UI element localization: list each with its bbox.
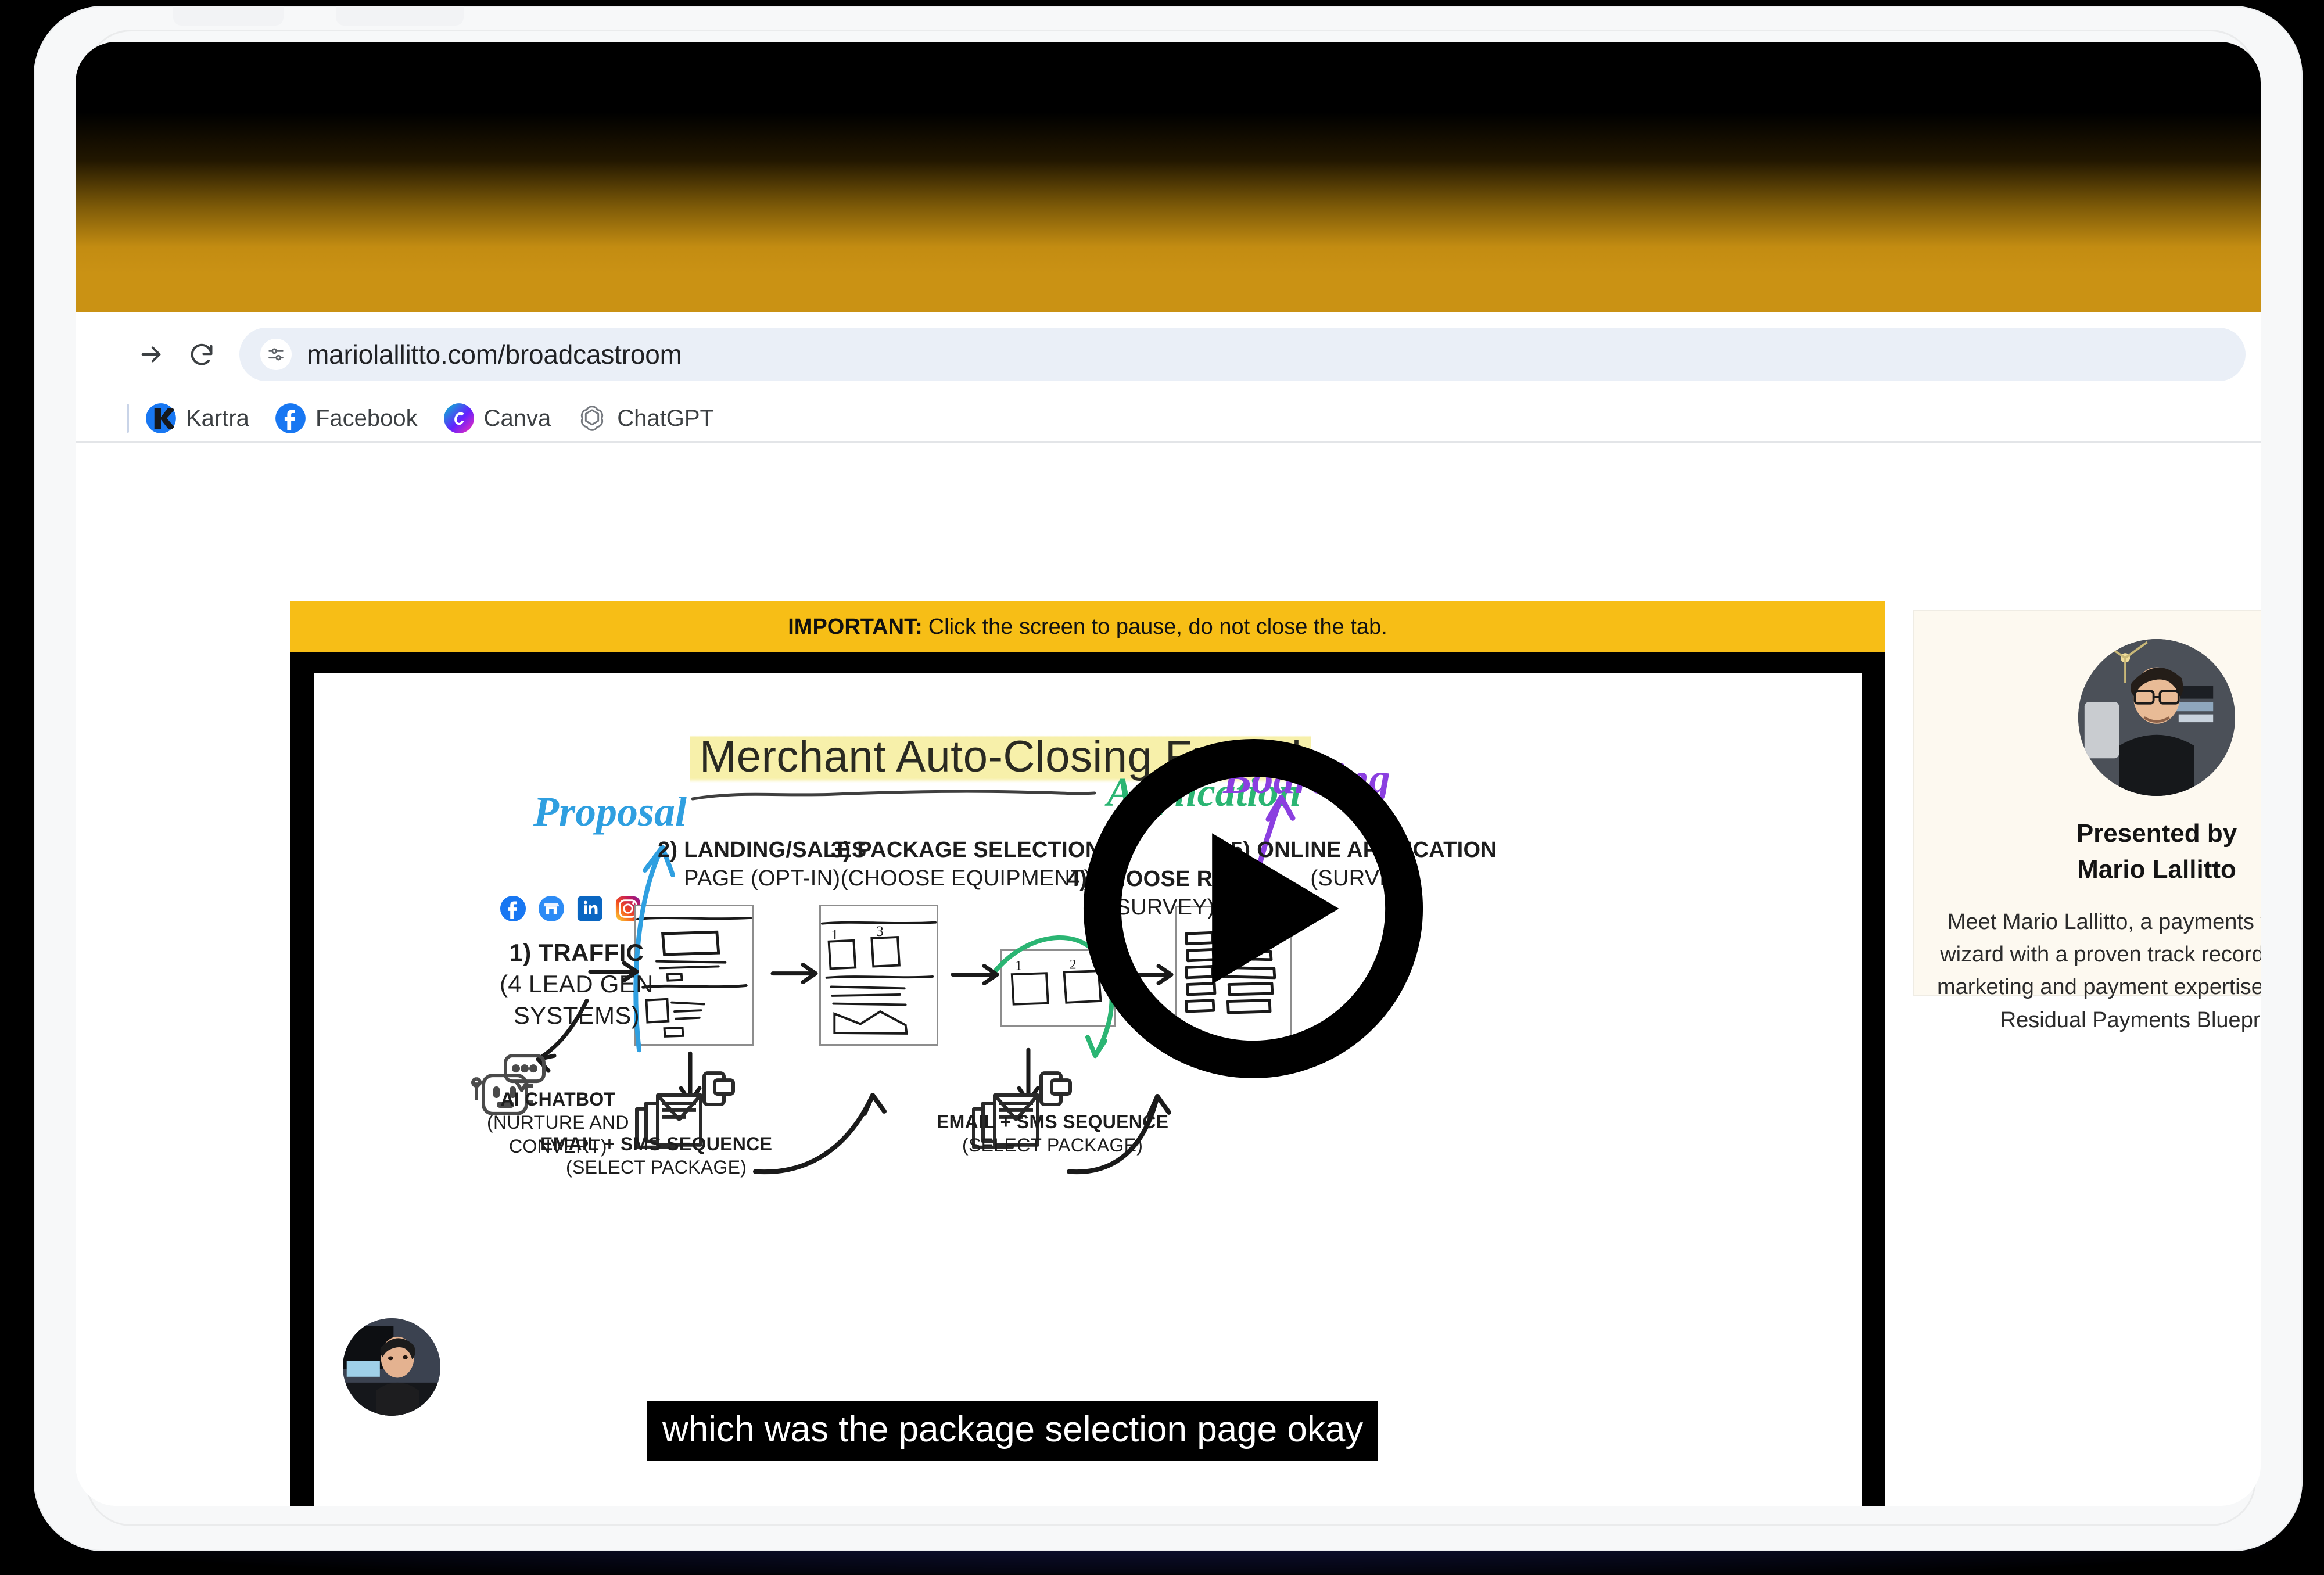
video-caption: which was the package selection page oka…: [647, 1401, 1378, 1461]
device-viewport: mariolallitto.com/broadcastroom Kartra: [76, 42, 2261, 1506]
video-player-card[interactable]: IMPORTANT: Click the screen to pause, do…: [290, 601, 1885, 1506]
reload-icon[interactable]: [177, 329, 227, 379]
bookmark-label: Canva: [484, 406, 551, 432]
mockup-package-ink: 1 3: [821, 906, 937, 1044]
page-content: IMPORTANT: Click the screen to pause, do…: [76, 443, 2261, 1506]
presenter-bio: Meet Mario Lallitto, a payments veteran …: [1937, 906, 2261, 1036]
presenter-name: Mario Lallitto: [1937, 852, 2261, 888]
bookmarks-divider: [127, 404, 129, 433]
presenter-card: Presented by Mario Lallitto Meet Mario L…: [1913, 610, 2261, 996]
linkedin-icon: [576, 895, 603, 922]
important-banner-bold: IMPORTANT:: [788, 615, 923, 640]
bookmark-label: ChatGPT: [617, 406, 714, 432]
device-notch-right: [336, 6, 464, 26]
facebook-icon: [500, 895, 526, 922]
bookmark-chatgpt[interactable]: ChatGPT: [576, 403, 714, 434]
url-text: mariolallitto.com/broadcastroom: [307, 339, 682, 370]
bookmark-label: Facebook: [315, 406, 418, 432]
video-frame[interactable]: Merchant Auto-Closing Funnel Proposal Ap…: [290, 652, 1885, 1506]
label-proposal: Proposal: [533, 788, 687, 836]
chatgpt-icon: [576, 403, 608, 434]
bookmark-facebook[interactable]: Facebook: [275, 403, 418, 434]
step-1-traffic: 1) TRAFFIC (4 LEAD GEN SYSTEMS): [500, 937, 654, 1031]
speaker-webcam-avatar: [343, 1318, 440, 1416]
email-sms-sequence-right-label: EMAIL + SMS SEQUENCE (SELECT PACKAGE): [937, 1110, 1168, 1157]
email-sub: (SELECT PACKAGE): [937, 1133, 1168, 1157]
google-business-icon: [538, 895, 565, 922]
tablet-device-frame: mariolallitto.com/broadcastroom Kartra: [34, 6, 2303, 1551]
step-title: 3) PACKAGE SELECTION: [831, 836, 1102, 864]
email-sub: (SELECT PACKAGE): [540, 1156, 772, 1179]
canva-icon: [443, 403, 475, 434]
kartra-icon: [145, 403, 177, 434]
device-notch-left: [173, 6, 284, 26]
step-sub: SYSTEMS): [500, 1000, 654, 1031]
bookmark-canva[interactable]: Canva: [443, 403, 551, 434]
mockup-package-selection: 1 3: [819, 905, 938, 1046]
step-3-package-selection: 3) PACKAGE SELECTION (CHOOSE EQUIPMENT): [831, 836, 1102, 894]
bio-line: wizard with a proven track record. Recog…: [1937, 938, 2261, 971]
bio-line: Residual Payments Blueprint (R: [1937, 1004, 2261, 1036]
email-sms-sequence-left-label: EMAIL + SMS SEQUENCE (SELECT PACKAGE): [540, 1132, 772, 1179]
step-title: 1) TRAFFIC: [500, 937, 654, 968]
mockup-landing-ink: [636, 906, 752, 1044]
traffic-social-icons: [500, 895, 641, 922]
important-banner-text: Click the screen to pause, do not close …: [928, 615, 1387, 640]
screen-background: mariolallitto.com/broadcastroom Kartra: [0, 0, 2324, 1575]
tune-icon[interactable]: [260, 339, 292, 370]
bookmark-label: Kartra: [186, 406, 249, 432]
bookmark-kartra[interactable]: Kartra: [145, 403, 249, 434]
browser-toolbar: mariolallitto.com/broadcastroom: [76, 319, 2261, 390]
chatbot-title: AI CHATBOT: [487, 1088, 629, 1111]
presenter-title: Presented by Mario Lallitto: [1937, 816, 2261, 888]
svg-text:1: 1: [1015, 958, 1021, 973]
step-sub: (CHOOSE EQUIPMENT): [831, 864, 1102, 893]
play-circle-icon[interactable]: [1082, 737, 1425, 1080]
presented-by-label: Presented by: [1937, 816, 2261, 852]
bio-line: Meet Mario Lallitto, a payments veteran …: [1937, 906, 2261, 938]
step-sub: (4 LEAD GEN: [500, 968, 654, 1000]
presenter-avatar: [2078, 639, 2235, 796]
bookmarks-bar: Kartra Facebook: [127, 398, 740, 439]
title-underline-ink: [690, 787, 1097, 802]
email-title: EMAIL + SMS SEQUENCE: [540, 1132, 772, 1156]
forward-arrow-icon[interactable]: [127, 329, 177, 379]
facebook-icon: [275, 403, 306, 434]
bio-line: marketing and payment expertise, he team…: [1937, 971, 2261, 1003]
svg-text:2: 2: [1070, 957, 1076, 972]
important-banner: IMPORTANT: Click the screen to pause, do…: [290, 601, 1885, 652]
video-surface[interactable]: Merchant Auto-Closing Funnel Proposal Ap…: [314, 673, 1862, 1506]
email-title: EMAIL + SMS SEQUENCE: [937, 1110, 1168, 1133]
hero-gradient-banner: [76, 42, 2261, 312]
chatbot-sub: (NURTURE AND: [487, 1111, 629, 1134]
browser-chrome: mariolallitto.com/broadcastroom Kartra: [76, 312, 2261, 443]
address-bar[interactable]: mariolallitto.com/broadcastroom: [239, 328, 2246, 381]
